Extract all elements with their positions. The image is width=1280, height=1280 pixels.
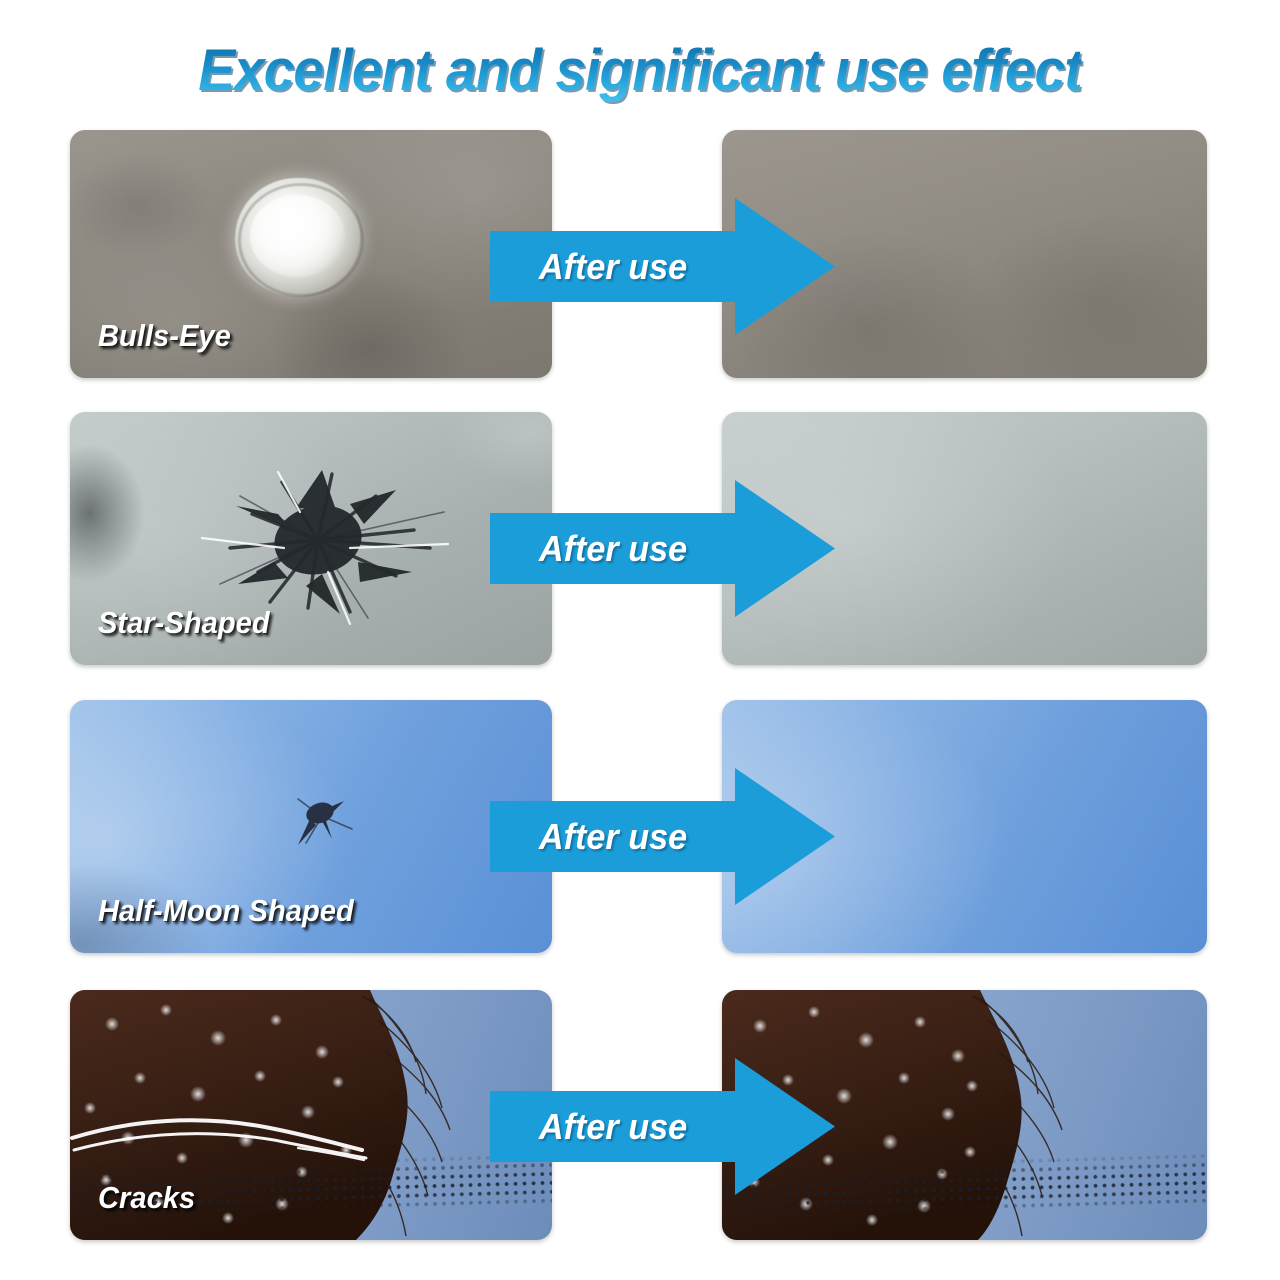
- page-header: Excellent and significant use effect: [0, 30, 1280, 110]
- damage-star-crack-icon: [200, 452, 450, 627]
- comparison-row-bulls-eye: Bulls-Eye After use: [0, 130, 1280, 378]
- after-panel-star-shaped[interactable]: [722, 412, 1207, 665]
- page-title: Excellent and significant use effect: [198, 37, 1081, 104]
- damage-bullseye-chip-icon: [235, 178, 360, 296]
- after-image-star-shaped: [722, 412, 1207, 665]
- arrow-label-bulls-eye: After use: [539, 246, 687, 288]
- damage-label-star-shaped: Star-Shaped: [98, 605, 270, 641]
- after-image-half-moon-shaped: [722, 700, 1207, 953]
- damage-half-moon-chip-icon: [292, 793, 354, 851]
- damage-label-cracks: Cracks: [98, 1180, 195, 1216]
- arrow-label-star-shaped: After use: [539, 528, 687, 570]
- before-panel-cracks[interactable]: Cracks: [70, 990, 552, 1240]
- comparison-row-star-shaped: Star-Shaped After use: [0, 412, 1280, 665]
- after-panel-bulls-eye[interactable]: [722, 130, 1207, 378]
- before-panel-bulls-eye[interactable]: Bulls-Eye: [70, 130, 552, 378]
- comparison-row-half-moon-shaped: Half-Moon Shaped After use: [0, 700, 1280, 953]
- damage-label-half-moon-shaped: Half-Moon Shaped: [98, 893, 354, 929]
- comparison-row-cracks: Cracks: [0, 990, 1280, 1240]
- after-image-bulls-eye: [722, 130, 1207, 378]
- after-panel-half-moon-shaped[interactable]: [722, 700, 1207, 953]
- before-panel-star-shaped[interactable]: Star-Shaped: [70, 412, 552, 665]
- damage-label-bulls-eye: Bulls-Eye: [98, 318, 231, 354]
- before-panel-half-moon-shaped[interactable]: Half-Moon Shaped: [70, 700, 552, 953]
- arrow-label-cracks: After use: [539, 1106, 687, 1148]
- after-panel-cracks[interactable]: [722, 990, 1207, 1240]
- arrow-label-half-moon-shaped: After use: [539, 816, 687, 858]
